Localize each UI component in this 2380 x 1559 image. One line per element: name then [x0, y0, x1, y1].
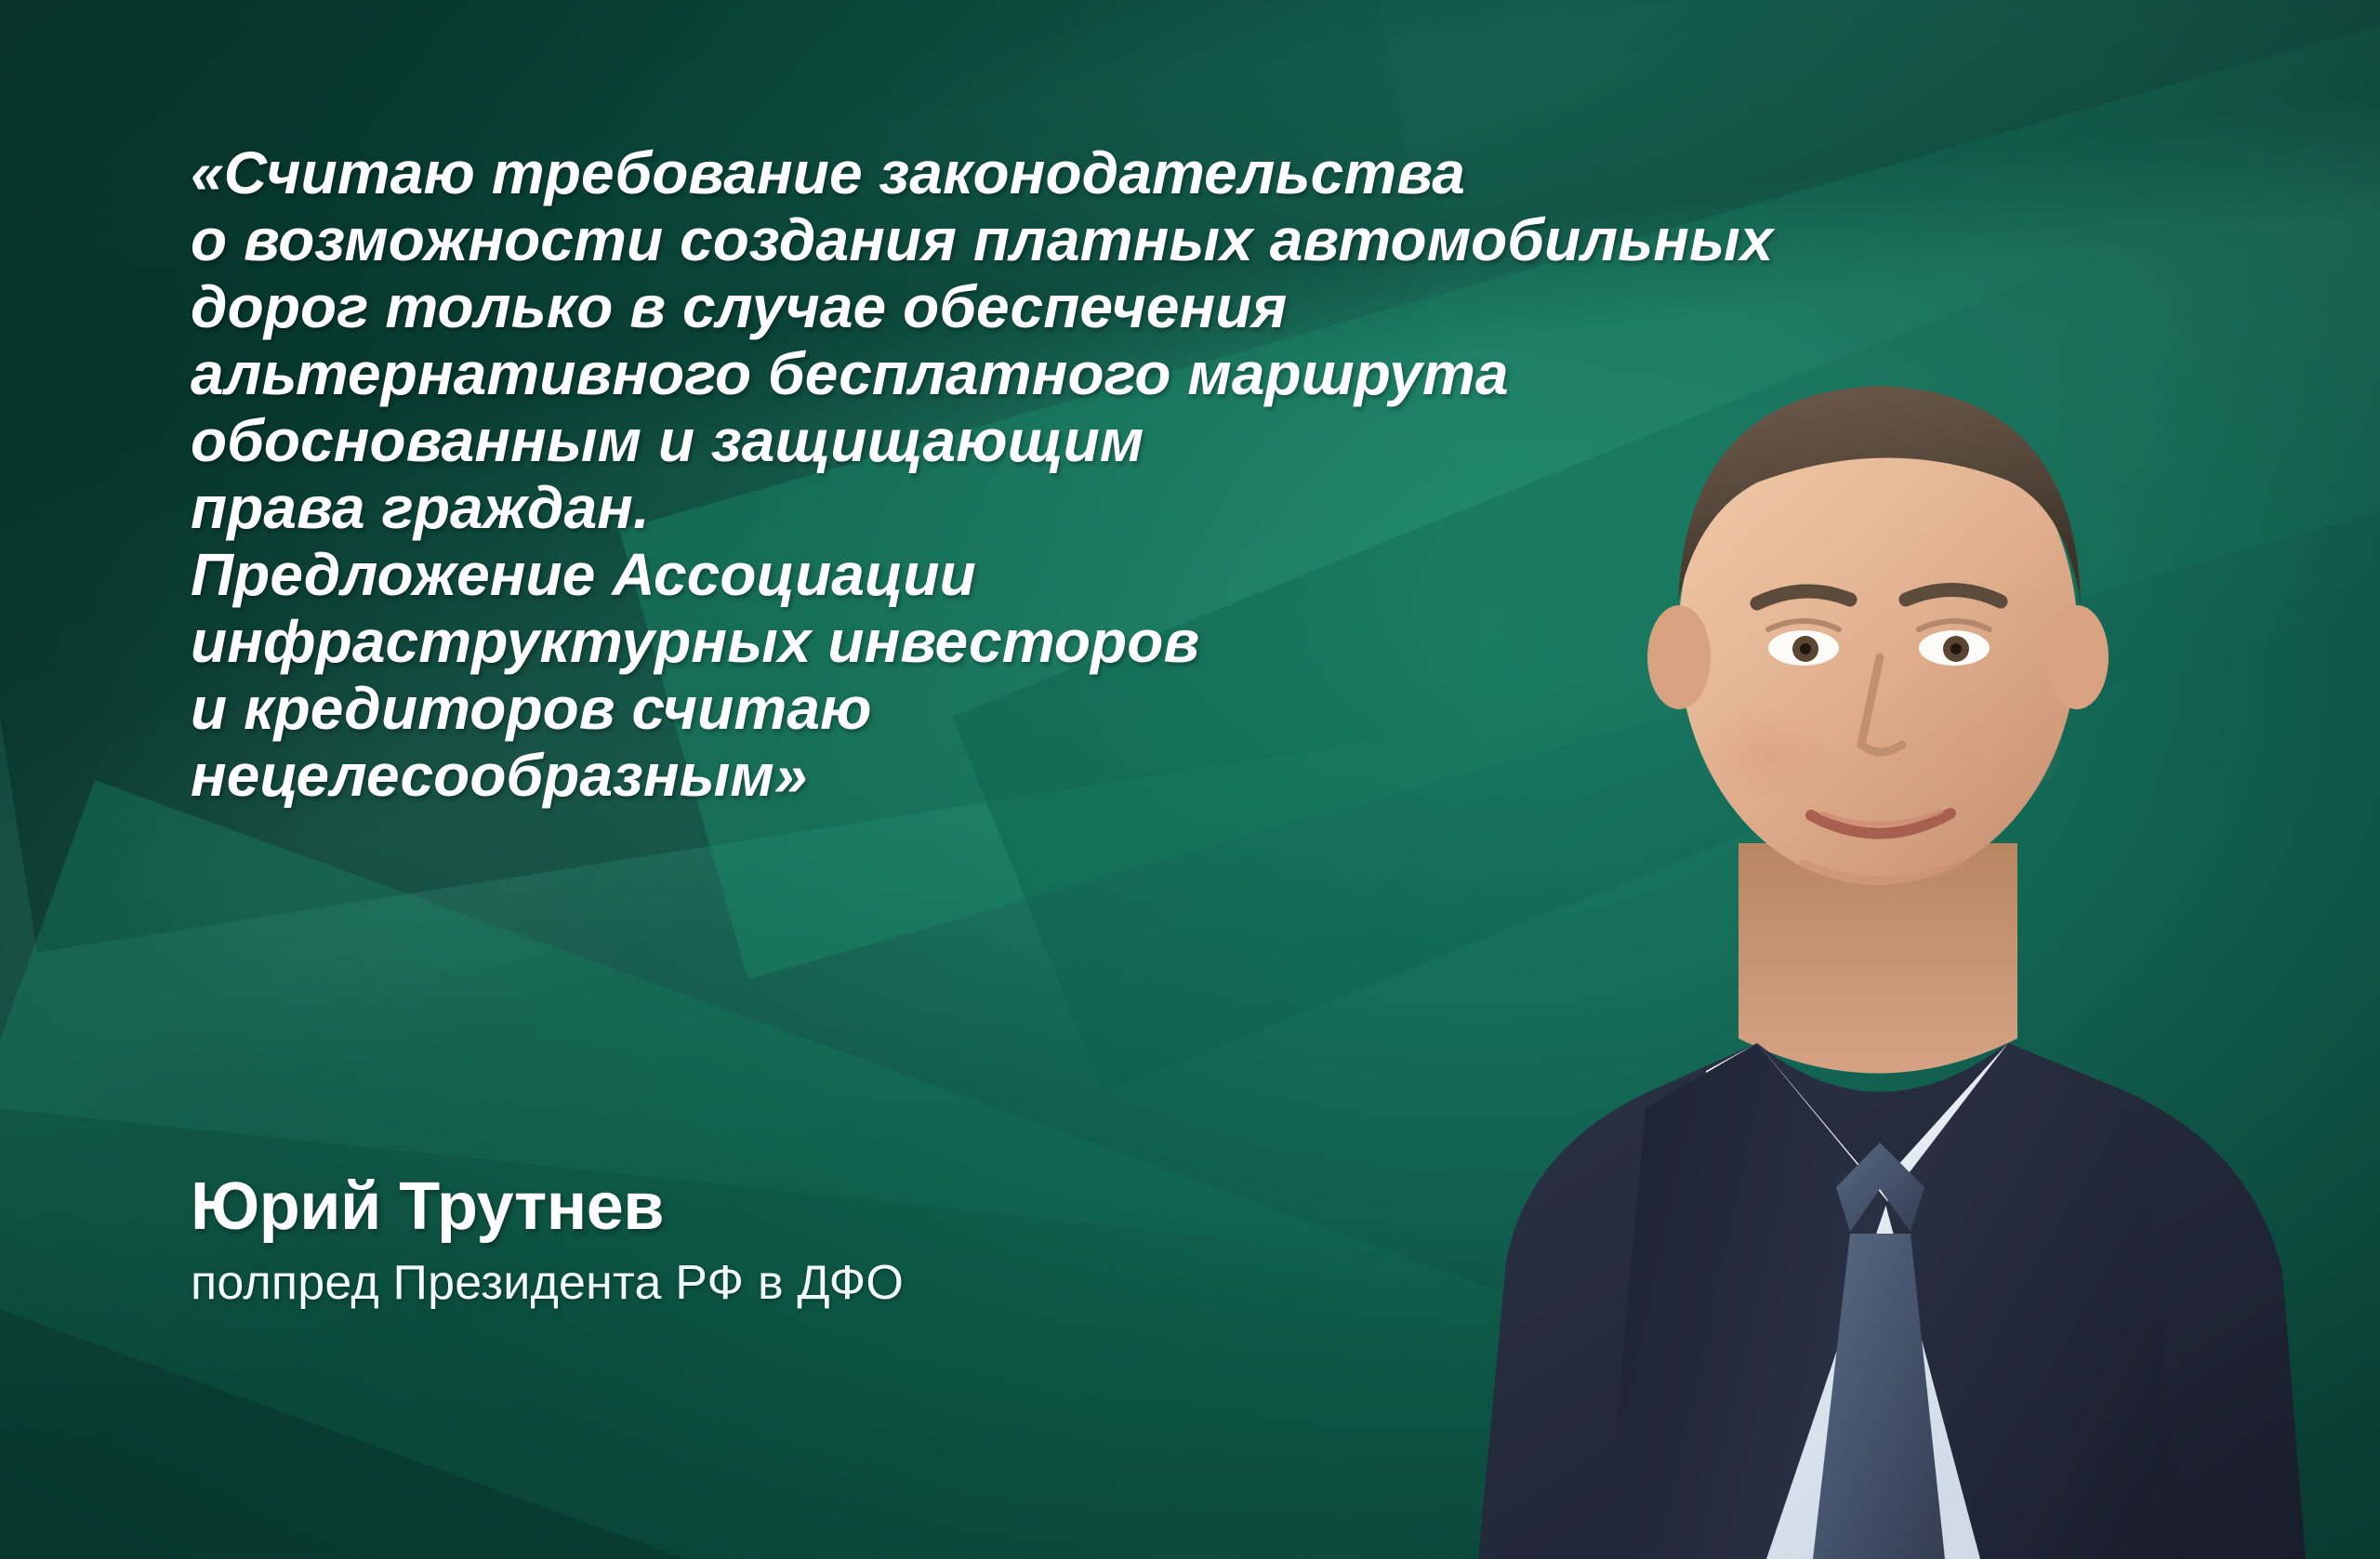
quote-line: инфраструктурных инвесторов	[191, 608, 2003, 675]
quote-line: альтернативного бесплатного маршрута	[191, 340, 2003, 407]
quote-text: «Считаю требование законодательства о во…	[191, 139, 2003, 809]
quote-line: Предложение Ассоциации	[191, 541, 2003, 608]
quote-line: и кредиторов считаю	[191, 675, 2003, 742]
quote-block: «Считаю требование законодательства о во…	[191, 139, 2003, 809]
quote-line: «Считаю требование законодательства	[191, 139, 2003, 206]
quote-line: дорог только в случае обеспечения	[191, 273, 2003, 340]
attribution-block: Юрий Трутнев полпред Президента РФ в ДФО	[191, 1167, 904, 1314]
speaker-name: Юрий Трутнев	[191, 1167, 904, 1247]
speaker-role: полпред Президента РФ в ДФО	[191, 1252, 904, 1314]
quote-line: права граждан.	[191, 474, 2003, 541]
quote-line: нецелесообразным»	[191, 742, 2003, 809]
quote-line: о возможности создания платных автомобил…	[191, 206, 2003, 273]
quote-line: обоснованным и защищающим	[191, 407, 2003, 474]
quote-card: «Считаю требование законодательства о во…	[0, 0, 2380, 1559]
